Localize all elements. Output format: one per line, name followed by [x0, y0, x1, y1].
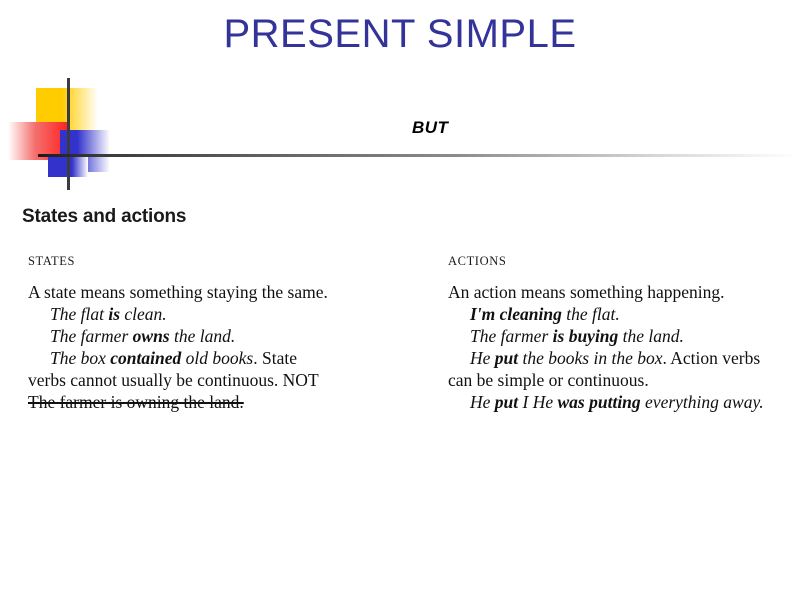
text-run: An action means something happening. — [448, 282, 725, 302]
extract-line: A state means something staying the same… — [28, 281, 368, 303]
extract-line: I'm cleaning the flat. — [448, 303, 800, 325]
text-run: He — [470, 348, 495, 368]
text-run: old books — [181, 348, 253, 368]
text-run: the land. — [618, 326, 684, 346]
extract-line: He put I He was putting everything away. — [448, 391, 800, 413]
text-run: The flat — [50, 304, 108, 324]
column-body-states: A state means something staying the same… — [28, 281, 368, 413]
text-run: the books in the box — [518, 348, 662, 368]
text-run: the land. — [170, 326, 236, 346]
text-run: I'm cleaning — [470, 304, 562, 324]
text-run: the flat. — [562, 304, 620, 324]
extract-line: The box contained old books. State — [28, 347, 368, 369]
text-run: is — [108, 304, 120, 324]
text-run: The farmer — [50, 326, 133, 346]
horizontal-divider-rule — [38, 154, 798, 157]
extract-line: The farmer owns the land. — [28, 325, 368, 347]
extract-line: can be simple or continuous. — [448, 369, 800, 391]
extract-heading: States and actions — [22, 206, 186, 228]
column-label-actions: ACTIONS — [448, 254, 800, 269]
text-run: clean. — [120, 304, 167, 324]
text-run: can be simple or continuous. — [448, 370, 649, 390]
extract-line: verbs cannot usually be continuous. NOT — [28, 369, 368, 391]
grammar-extract: States and actions STATES A state means … — [0, 196, 800, 456]
text-run: The farmer is owning the land. — [28, 392, 244, 412]
vertical-rule — [67, 78, 70, 190]
text-run: . Action verbs — [662, 348, 760, 368]
column-states: STATES A state means something staying t… — [28, 254, 368, 413]
text-run: . State — [253, 348, 297, 368]
text-run: He — [470, 392, 495, 412]
column-actions: ACTIONS An action means something happen… — [448, 254, 800, 413]
extract-line: An action means something happening. — [448, 281, 800, 303]
extract-line: He put the books in the box. Action verb… — [448, 347, 800, 369]
column-label-states: STATES — [28, 254, 368, 269]
text-run: The box — [50, 348, 110, 368]
text-run: owns — [133, 326, 170, 346]
extract-line: The flat is clean. — [28, 303, 368, 325]
text-run: I He — [518, 392, 557, 412]
text-run: The farmer — [470, 326, 553, 346]
text-run: verbs cannot usually be continuous. NOT — [28, 370, 319, 390]
extract-line: The farmer is buying the land. — [448, 325, 800, 347]
extract-line: The farmer is owning the land. — [28, 391, 368, 413]
text-run: is buying — [553, 326, 619, 346]
text-run: A state means something staying the same… — [28, 282, 328, 302]
text-run: was putting — [558, 392, 641, 412]
text-run: everything away. — [641, 392, 764, 412]
text-run: put — [495, 392, 518, 412]
page-title: PRESENT SIMPLE — [0, 12, 800, 57]
text-run: contained — [110, 348, 181, 368]
connector-label-but: BUT — [412, 118, 448, 138]
text-run: put — [495, 348, 518, 368]
blends-design-logo — [0, 78, 230, 190]
column-body-actions: An action means something happening.I'm … — [448, 281, 800, 413]
